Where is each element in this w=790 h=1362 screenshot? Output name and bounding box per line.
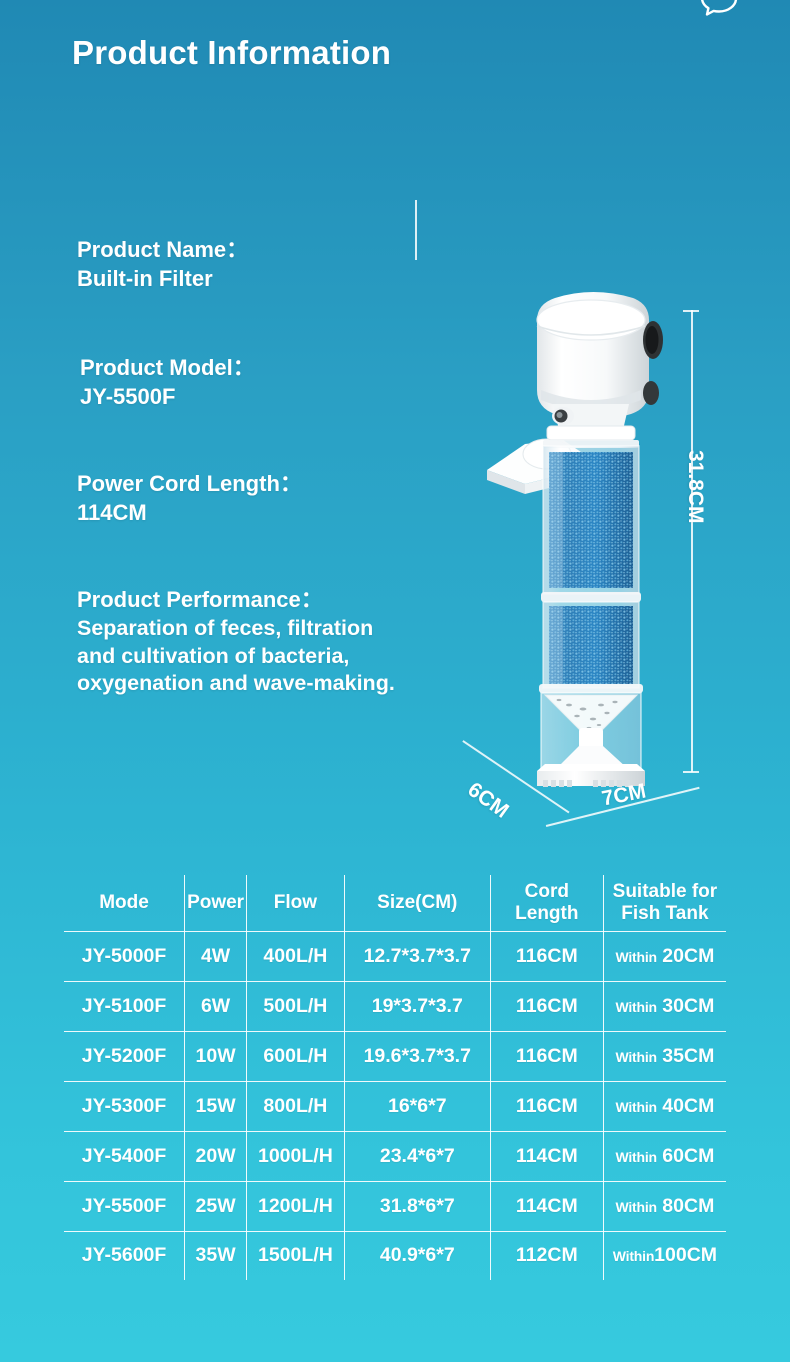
cell-suitable-fish-tank: Within100CM — [603, 1231, 727, 1281]
spec-product-name-value: Built-in Filter — [77, 265, 248, 294]
cell-suitable-fish-tank: Within 35CM — [603, 1031, 727, 1081]
table-header-tank-line-1: Suitable for — [613, 881, 718, 902]
built-in-filter-product-image — [485, 208, 685, 788]
spec-product-name-label: Product Name： — [77, 236, 248, 265]
cell-tank-value: 60CM — [657, 1145, 714, 1167]
spec-cord-length: Power Cord Length： 114CM — [77, 470, 302, 527]
cell-suitable-fish-tank: Within 40CM — [603, 1081, 727, 1131]
table-header-row: Mode Power Flow Size(CM) Cord Length Sui… — [63, 874, 727, 931]
table-header-suitable-fish-tank: Suitable for Fish Tank — [603, 874, 727, 931]
cell-size: 16*6*7 — [344, 1081, 490, 1131]
specification-table: Mode Power Flow Size(CM) Cord Length Sui… — [62, 873, 728, 1282]
cell-power: 4W — [185, 931, 247, 981]
cell-tank-value: 80CM — [657, 1195, 714, 1217]
cell-tank-value: 20CM — [657, 945, 714, 967]
cell-flow: 600L/H — [247, 1031, 345, 1081]
cell-flow: 400L/H — [247, 931, 345, 981]
cell-mode: JY-5300F — [63, 1081, 185, 1131]
table-row: JY-5000F4W400L/H12.7*3.7*3.7116CMWithin … — [63, 931, 727, 981]
specification-table-container: Mode Power Flow Size(CM) Cord Length Sui… — [62, 873, 728, 1282]
table-row: JY-5200F10W600L/H19.6*3.7*3.7116CMWithin… — [63, 1031, 727, 1081]
spec-performance-label: Product Performance： — [77, 586, 395, 615]
table-header-flow: Flow — [247, 874, 345, 931]
spec-performance-line-2: and cultivation of bacteria, — [77, 643, 395, 671]
cell-power: 15W — [185, 1081, 247, 1131]
cell-cord-length: 116CM — [490, 1031, 603, 1081]
spec-performance-line-1: Separation of feces, filtration — [77, 615, 395, 643]
table-row: JY-5400F20W1000L/H23.4*6*7114CMWithin 60… — [63, 1131, 727, 1181]
cell-within-prefix: Within — [613, 1248, 654, 1264]
spec-product-model-value: JY-5500F — [80, 383, 255, 412]
table-header-tank-line-2: Fish Tank — [621, 903, 708, 924]
cell-size: 40.9*6*7 — [344, 1231, 490, 1281]
cell-power: 10W — [185, 1031, 247, 1081]
cell-tank-value: 100CM — [654, 1244, 717, 1266]
table-row: JY-5100F6W500L/H19*3.7*3.7116CMWithin 30… — [63, 981, 727, 1031]
product-image-area: 31.8CM 6CM 7CM — [415, 200, 715, 820]
table-header-size: Size(CM) — [344, 874, 490, 931]
cell-suitable-fish-tank: Within 80CM — [603, 1181, 727, 1231]
cell-cord-length: 112CM — [490, 1231, 603, 1281]
cell-cord-length: 116CM — [490, 1081, 603, 1131]
cell-suitable-fish-tank: Within 60CM — [603, 1131, 727, 1181]
cell-power: 35W — [185, 1231, 247, 1281]
spec-performance-line-3: oxygenation and wave-making. — [77, 670, 395, 698]
chat-bubble-icon[interactable] — [696, 0, 742, 26]
cell-cord-length: 114CM — [490, 1131, 603, 1181]
cell-power: 20W — [185, 1131, 247, 1181]
height-dimension-tick-top — [683, 310, 699, 312]
cell-size: 12.7*3.7*3.7 — [344, 931, 490, 981]
table-header-cord-length: Cord Length — [490, 874, 603, 931]
page-title: Product Information — [72, 34, 391, 72]
cell-flow: 1200L/H — [247, 1181, 345, 1231]
cell-cord-length: 116CM — [490, 931, 603, 981]
cell-within-prefix: Within — [615, 1049, 656, 1065]
table-row: JY-5300F15W800L/H16*6*7116CMWithin 40CM — [63, 1081, 727, 1131]
spec-cord-length-label: Power Cord Length： — [77, 470, 302, 499]
cell-flow: 1000L/H — [247, 1131, 345, 1181]
cell-within-prefix: Within — [615, 1199, 656, 1215]
height-dimension-line — [691, 310, 693, 772]
cell-mode: JY-5100F — [63, 981, 185, 1031]
cell-tank-value: 35CM — [657, 1045, 714, 1067]
cell-within-prefix: Within — [615, 1149, 656, 1165]
height-dimension-tick-bottom — [683, 771, 699, 773]
cell-cord-length: 116CM — [490, 981, 603, 1031]
cell-mode: JY-5000F — [63, 931, 185, 981]
cell-flow: 1500L/H — [247, 1231, 345, 1281]
width-dimension-riser — [415, 200, 417, 260]
spec-product-model-label: Product Model： — [80, 354, 255, 383]
height-dimension-label: 31.8CM — [683, 450, 707, 524]
cell-power: 6W — [185, 981, 247, 1031]
cell-size: 19.6*3.7*3.7 — [344, 1031, 490, 1081]
cell-within-prefix: Within — [615, 949, 656, 965]
cell-size: 31.8*6*7 — [344, 1181, 490, 1231]
table-body: JY-5000F4W400L/H12.7*3.7*3.7116CMWithin … — [63, 931, 727, 1281]
cell-mode: JY-5400F — [63, 1131, 185, 1181]
table-header-power: Power — [185, 874, 247, 931]
cell-size: 23.4*6*7 — [344, 1131, 490, 1181]
cell-mode: JY-5200F — [63, 1031, 185, 1081]
table-header-mode: Mode — [63, 874, 185, 931]
cell-within-prefix: Within — [615, 1099, 656, 1115]
cell-flow: 500L/H — [247, 981, 345, 1031]
cell-suitable-fish-tank: Within 20CM — [603, 931, 727, 981]
cell-power: 25W — [185, 1181, 247, 1231]
table-row: JY-5500F25W1200L/H31.8*6*7114CMWithin 80… — [63, 1181, 727, 1231]
cell-within-prefix: Within — [615, 999, 656, 1015]
cell-tank-value: 30CM — [657, 995, 714, 1017]
spec-performance: Product Performance： Separation of feces… — [77, 586, 395, 698]
table-row: JY-5600F35W1500L/H40.9*6*7112CMWithin100… — [63, 1231, 727, 1281]
spec-cord-length-value: 114CM — [77, 499, 302, 528]
cell-flow: 800L/H — [247, 1081, 345, 1131]
cell-cord-length: 114CM — [490, 1181, 603, 1231]
cell-mode: JY-5500F — [63, 1181, 185, 1231]
spec-product-model: Product Model： JY-5500F — [80, 354, 255, 411]
cell-suitable-fish-tank: Within 30CM — [603, 981, 727, 1031]
cell-mode: JY-5600F — [63, 1231, 185, 1281]
cell-tank-value: 40CM — [657, 1095, 714, 1117]
cell-size: 19*3.7*3.7 — [344, 981, 490, 1031]
spec-product-name: Product Name： Built-in Filter — [77, 236, 248, 293]
